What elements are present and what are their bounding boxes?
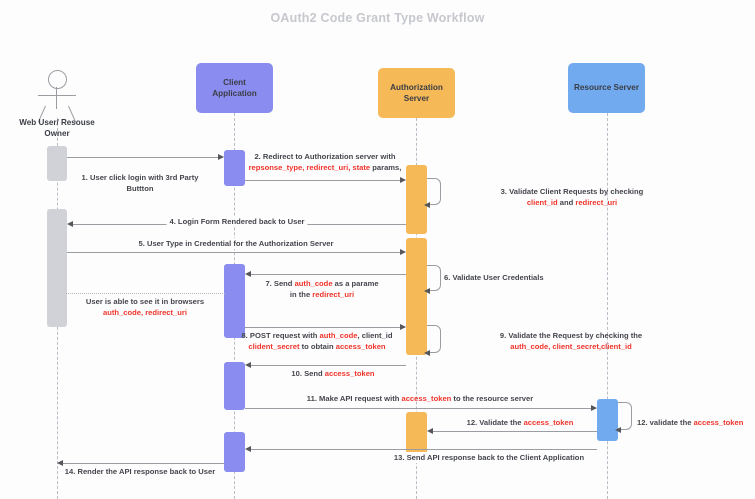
participant-authorization-server[interactable]: Authorization Server [378, 68, 455, 118]
message-7-arrowhead [245, 271, 251, 277]
message-14-arrowhead [57, 460, 63, 466]
message-4-arrowhead [67, 221, 73, 227]
page-title: OAuth2 Code Grant Type Workflow [0, 11, 755, 25]
message-1-line2: Buttton [127, 184, 154, 193]
message-13-arrowhead [245, 446, 251, 452]
message-3-line2-mid: and [558, 198, 576, 207]
message-14-label: 14. Render the API response back to User [65, 466, 215, 477]
note-dashed-connector [66, 293, 225, 294]
participant-resource-label-line1: Resource Server [574, 82, 639, 93]
message-14-text: 14. Render the API response back to User [65, 467, 215, 476]
message-4-label: 4. Login Form Rendered back to User [166, 216, 307, 227]
lifeline-resource [607, 113, 608, 499]
activation-client-4 [224, 432, 245, 472]
activation-actor-1 [47, 146, 67, 181]
message-13-label: 13. Send API response back to the Client… [391, 452, 587, 463]
message-11-pre: 11. Make API request with [307, 394, 402, 403]
note-browser-visibility: User is able to see it in browsers auth_… [86, 296, 204, 319]
message-11-post: to the resource server [451, 394, 533, 403]
message-10-arrowhead [245, 362, 251, 368]
message-8-label: 8. POST request with auth_code, client_i… [241, 330, 392, 352]
message-7-line1-post: as a parame [333, 279, 379, 288]
participant-client-label-line2: Application [212, 88, 257, 99]
message-8-arrowhead [400, 324, 406, 330]
message-10-label: 10. Send access_token [291, 368, 374, 379]
activation-auth-2 [406, 238, 427, 355]
message-7-label: 7. Send auth_code as a parame in the red… [265, 278, 378, 300]
message-11-arrowhead [591, 405, 597, 411]
note-line2-tokens: auth_code, redirect_uri [103, 308, 187, 317]
message-11-token-access-token: access_token [401, 394, 451, 403]
message-3-line1: 3. Validate Client Requests by checking [501, 187, 644, 196]
message-13-text: 13. Send API response back to the Client… [394, 453, 584, 462]
message-8-token-access-token: access_token [336, 342, 386, 351]
message-8-line1-post: , client_id [358, 331, 393, 340]
message-9-line1: 9. Validate the Request by checking the [500, 331, 642, 340]
message-6-text: 6. Validate User Credentials [444, 273, 544, 282]
message-9-line2-tokens: auth_code, client_secret,client_id [510, 342, 632, 351]
message-1-arrowhead [218, 154, 224, 160]
message-8-token-auth-code: auth_code [320, 331, 358, 340]
message-8-line2-mid: to obtain [299, 342, 335, 351]
message-1-line [67, 157, 223, 158]
message-11-line [245, 408, 596, 409]
message-9-label: 9. Validate the Request by checking the … [500, 330, 642, 352]
activation-actor-2 [47, 209, 67, 327]
message-8-token-client-secret: clident_secret [248, 342, 299, 351]
message-1-line1: 1. User click login with 3rd Party [82, 173, 199, 182]
actor-body-icon [56, 87, 57, 109]
sequence-diagram-canvas: OAuth2 Code Grant Type Workflow Web User… [0, 0, 755, 499]
message-7-line [248, 274, 406, 275]
message-5-label: 5. User Type in Credential for the Autho… [136, 238, 337, 249]
actor-label-line1: Web User/ Resouse [0, 118, 114, 129]
activation-client-1 [224, 150, 245, 186]
message-3-label: 3. Validate Client Requests by checking … [501, 186, 644, 208]
message-12b-arrowhead [615, 427, 621, 433]
message-9-arrowhead [424, 350, 430, 356]
message-13-line [248, 449, 597, 450]
activation-auth-1 [406, 165, 427, 234]
participant-client-label-line1: Client [212, 77, 257, 88]
message-1-label: 1. User click login with 3rd Party Buttt… [82, 172, 199, 194]
message-10-line [248, 365, 406, 366]
message-7-token-redirect-uri: redirect_uri [312, 290, 354, 299]
note-line1: User is able to see it in browsers [86, 297, 204, 306]
message-2-line [245, 180, 405, 181]
message-12-line [430, 431, 597, 432]
message-2-arrowhead [400, 177, 406, 183]
actor-label: Web User/ Resouse Owner [0, 118, 114, 140]
participant-resource-server[interactable]: Resource Server [568, 63, 645, 113]
message-6-label: 6. Validate User Credentials [444, 272, 544, 283]
actor-label-line2: Owner [0, 129, 114, 140]
message-12b-pre: 12. validate the [637, 418, 694, 427]
message-2-line1: 2. Redirect to Authorization server with [254, 152, 395, 161]
activation-client-2 [224, 264, 245, 338]
message-11-label: 11. Make API request with access_token t… [307, 393, 533, 404]
message-2-label: 2. Redirect to Authorization server with… [249, 151, 402, 173]
message-3-token-client-id: client_id [527, 198, 558, 207]
message-10-token-access-token: access_token [325, 369, 375, 378]
message-12-label: 12. Validate the access_token [467, 417, 574, 428]
message-4-text: 4. Login Form Rendered back to User [169, 217, 304, 226]
message-2-line2-tokens: repsonse_type, redirect_uri, state [249, 163, 371, 172]
message-5-line [67, 252, 404, 253]
message-8-line1-pre: 8. POST request with [241, 331, 319, 340]
message-5-text: 5. User Type in Credential for the Autho… [139, 239, 334, 248]
message-3-token-redirect-uri: redirect_uri [575, 198, 617, 207]
message-5-arrowhead [400, 249, 406, 255]
message-12b-label: 12. validate the access_token [637, 417, 743, 428]
message-7-line1-pre: 7. Send [265, 279, 294, 288]
activation-resource-1 [597, 399, 618, 441]
participant-auth-label-line1: Authorization [390, 82, 443, 93]
message-12-arrowhead [427, 428, 433, 434]
message-10-pre: 10. Send [291, 369, 324, 378]
activation-client-3 [224, 362, 245, 410]
message-14-line [60, 463, 224, 464]
message-12-pre: 12. Validate the [467, 418, 524, 427]
message-7-token-auth-code: auth_code [295, 279, 333, 288]
participant-client-application[interactable]: Client Application [196, 63, 273, 113]
message-12b-token-access-token: access_token [694, 418, 744, 427]
actor-head-icon [48, 70, 67, 89]
message-3-arrowhead [424, 202, 430, 208]
message-6-arrowhead [424, 288, 430, 294]
message-8-line [245, 327, 405, 328]
message-12-token-access-token: access_token [524, 418, 574, 427]
participant-auth-label-line2: Server [390, 93, 443, 104]
message-2-line2-tail: params, [370, 163, 401, 172]
message-7-line2-pre: in the [290, 290, 312, 299]
actor-arms-icon [38, 95, 76, 96]
